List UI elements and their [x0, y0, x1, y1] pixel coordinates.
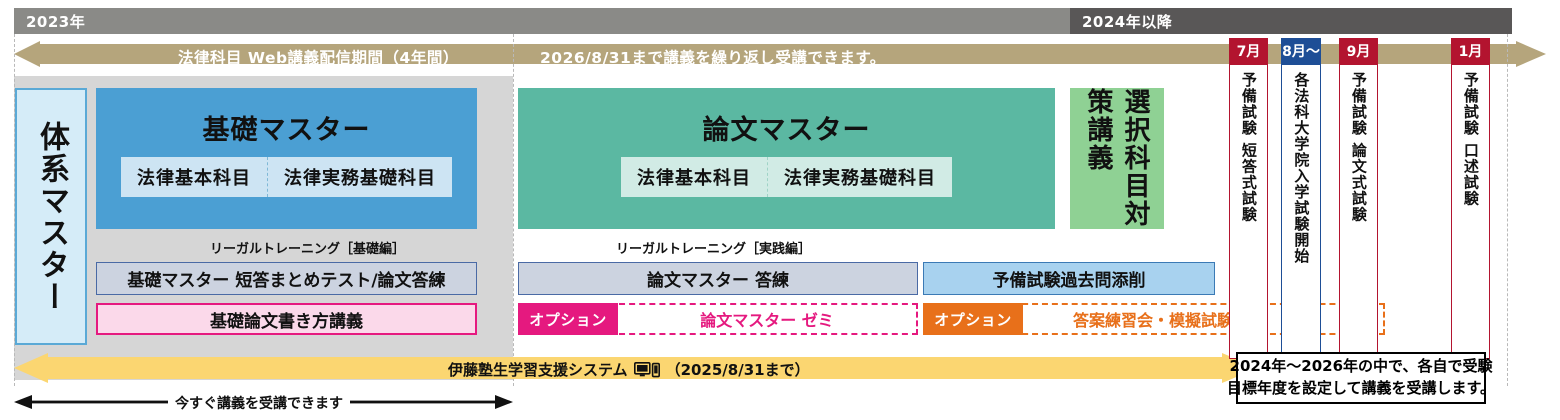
test-bar-kiso-master-label: 基礎マスター 短答まとめテスト/論文答練	[127, 266, 445, 291]
support-system-label-group: 伊藤塾生学習支援システム （2025/8/31まで）	[448, 359, 810, 380]
course-kiso-master-subjects: 法律基本科目 法律実務基礎科目	[121, 157, 452, 197]
course-elective-measures-label: 選択科目対策講義	[1080, 88, 1154, 229]
option-tag: オプション	[518, 303, 618, 335]
option-tag: オプション	[923, 303, 1023, 335]
course-kiso-master-title: 基礎マスター	[203, 108, 371, 147]
option-kiso-essay-writing-label: 基礎論文書き方講義	[210, 307, 363, 332]
month-chip-1-label: 1月	[1459, 41, 1483, 61]
delivery-period-label: 法律科目 Web講義配信期間（4年間）	[178, 46, 459, 68]
exam-column-ronbun-label: 予備試験 論文式試験	[1349, 72, 1368, 222]
exam-column-tanto[interactable]: 予備試験 短答式試験	[1229, 64, 1268, 359]
year-header-2024-label: 2024年以降	[1070, 11, 1172, 32]
subject-chip: 法律基本科目	[121, 157, 267, 197]
exam-column-lawschool[interactable]: 各法科大学院入学試験開始	[1281, 64, 1321, 359]
exam-column-tanto-label: 予備試験 短答式試験	[1239, 72, 1258, 222]
test-bar-past-exam-review[interactable]: 予備試験過去問添削	[923, 262, 1215, 295]
option-answer-practice-mock-label: 答案練習会・模擬試験	[1023, 305, 1383, 333]
exam-column-ronbun[interactable]: 予備試験 論文式試験	[1339, 64, 1378, 359]
year-header-2024: 2024年以降	[1070, 8, 1512, 34]
target-year-note-box: 2024年～2026年の中で、各自で受験 目標年度を設定して講義を受講します。	[1236, 352, 1486, 404]
repeat-note-label: 2026/8/31まで講義を繰り返し受講できます。	[540, 46, 886, 68]
subject-chip: 法律実務基礎科目	[267, 157, 452, 197]
course-ronbun-master-subjects: 法律基本科目 法律実務基礎科目	[621, 157, 952, 197]
target-year-note-line1: 2024年～2026年の中で、各自で受験	[1230, 356, 1493, 378]
course-elective-measures[interactable]: 選択科目対策講義	[1070, 88, 1164, 229]
test-bar-ronbun-master[interactable]: 論文マスター 答練	[518, 262, 918, 295]
test-bar-kiso-master[interactable]: 基礎マスター 短答まとめテスト/論文答練	[96, 262, 477, 295]
month-chip-7: 7月	[1229, 38, 1268, 64]
month-chip-8: 8月～	[1281, 38, 1321, 64]
exam-column-koujutsu-label: 予備試験 口述試験	[1461, 72, 1480, 206]
year-header-2023-label: 2023年	[14, 11, 85, 32]
support-system-suffix: （2025/8/31まで）	[666, 359, 810, 380]
course-taikei-master[interactable]: 体系マスター	[15, 88, 87, 345]
monitor-phone-icon	[634, 362, 660, 378]
target-year-note-line2: 目標年度を設定して講義を受講します。	[1227, 378, 1495, 400]
course-taikei-master-label: 体系マスター	[29, 121, 73, 313]
test-bar-ronbun-master-label: 論文マスター 答練	[647, 266, 789, 291]
month-chip-9: 9月	[1339, 38, 1378, 64]
month-chip-1: 1月	[1451, 38, 1490, 64]
course-ronbun-master-title: 論文マスター	[703, 108, 871, 147]
support-system-label: 伊藤塾生学習支援システム	[448, 359, 628, 380]
guide-mid	[513, 34, 514, 386]
option-ronbun-master-seminar[interactable]: オプション 論文マスター ゼミ	[518, 303, 918, 335]
subject-chip: 法律実務基礎科目	[767, 157, 952, 197]
caption-legal-training-basic: リーガルトレーニング［基礎編］	[210, 238, 405, 257]
course-kiso-master[interactable]: 基礎マスター 法律基本科目 法律実務基礎科目	[96, 88, 477, 229]
year-header-2023: 2023年	[14, 8, 1070, 34]
exam-column-koujutsu[interactable]: 予備試験 口述試験	[1451, 64, 1490, 359]
test-bar-past-exam-review-label: 予備試験過去問添削	[993, 266, 1146, 291]
option-ronbun-master-seminar-label: 論文マスター ゼミ	[618, 305, 916, 333]
month-chip-9-label: 9月	[1347, 41, 1371, 61]
option-kiso-essay-writing[interactable]: 基礎論文書き方講義	[96, 303, 477, 335]
immediate-availability-label: 今すぐ講義を受講できます	[168, 393, 350, 413]
guide-right	[1507, 34, 1508, 386]
caption-legal-training-practice: リーガルトレーニング［実践編］	[616, 238, 811, 257]
subject-chip: 法律基本科目	[621, 157, 767, 197]
exam-column-lawschool-label: 各法科大学院入学試験開始	[1292, 72, 1311, 264]
month-chip-7-label: 7月	[1237, 41, 1261, 61]
course-ronbun-master[interactable]: 論文マスター 法律基本科目 法律実務基礎科目	[518, 88, 1055, 229]
month-chip-8-label: 8月～	[1282, 41, 1320, 61]
course-timeline-diagram: 2023年 2024年以降 法律科目 Web講義配信期間（4年間） 2026/8…	[0, 0, 1560, 420]
